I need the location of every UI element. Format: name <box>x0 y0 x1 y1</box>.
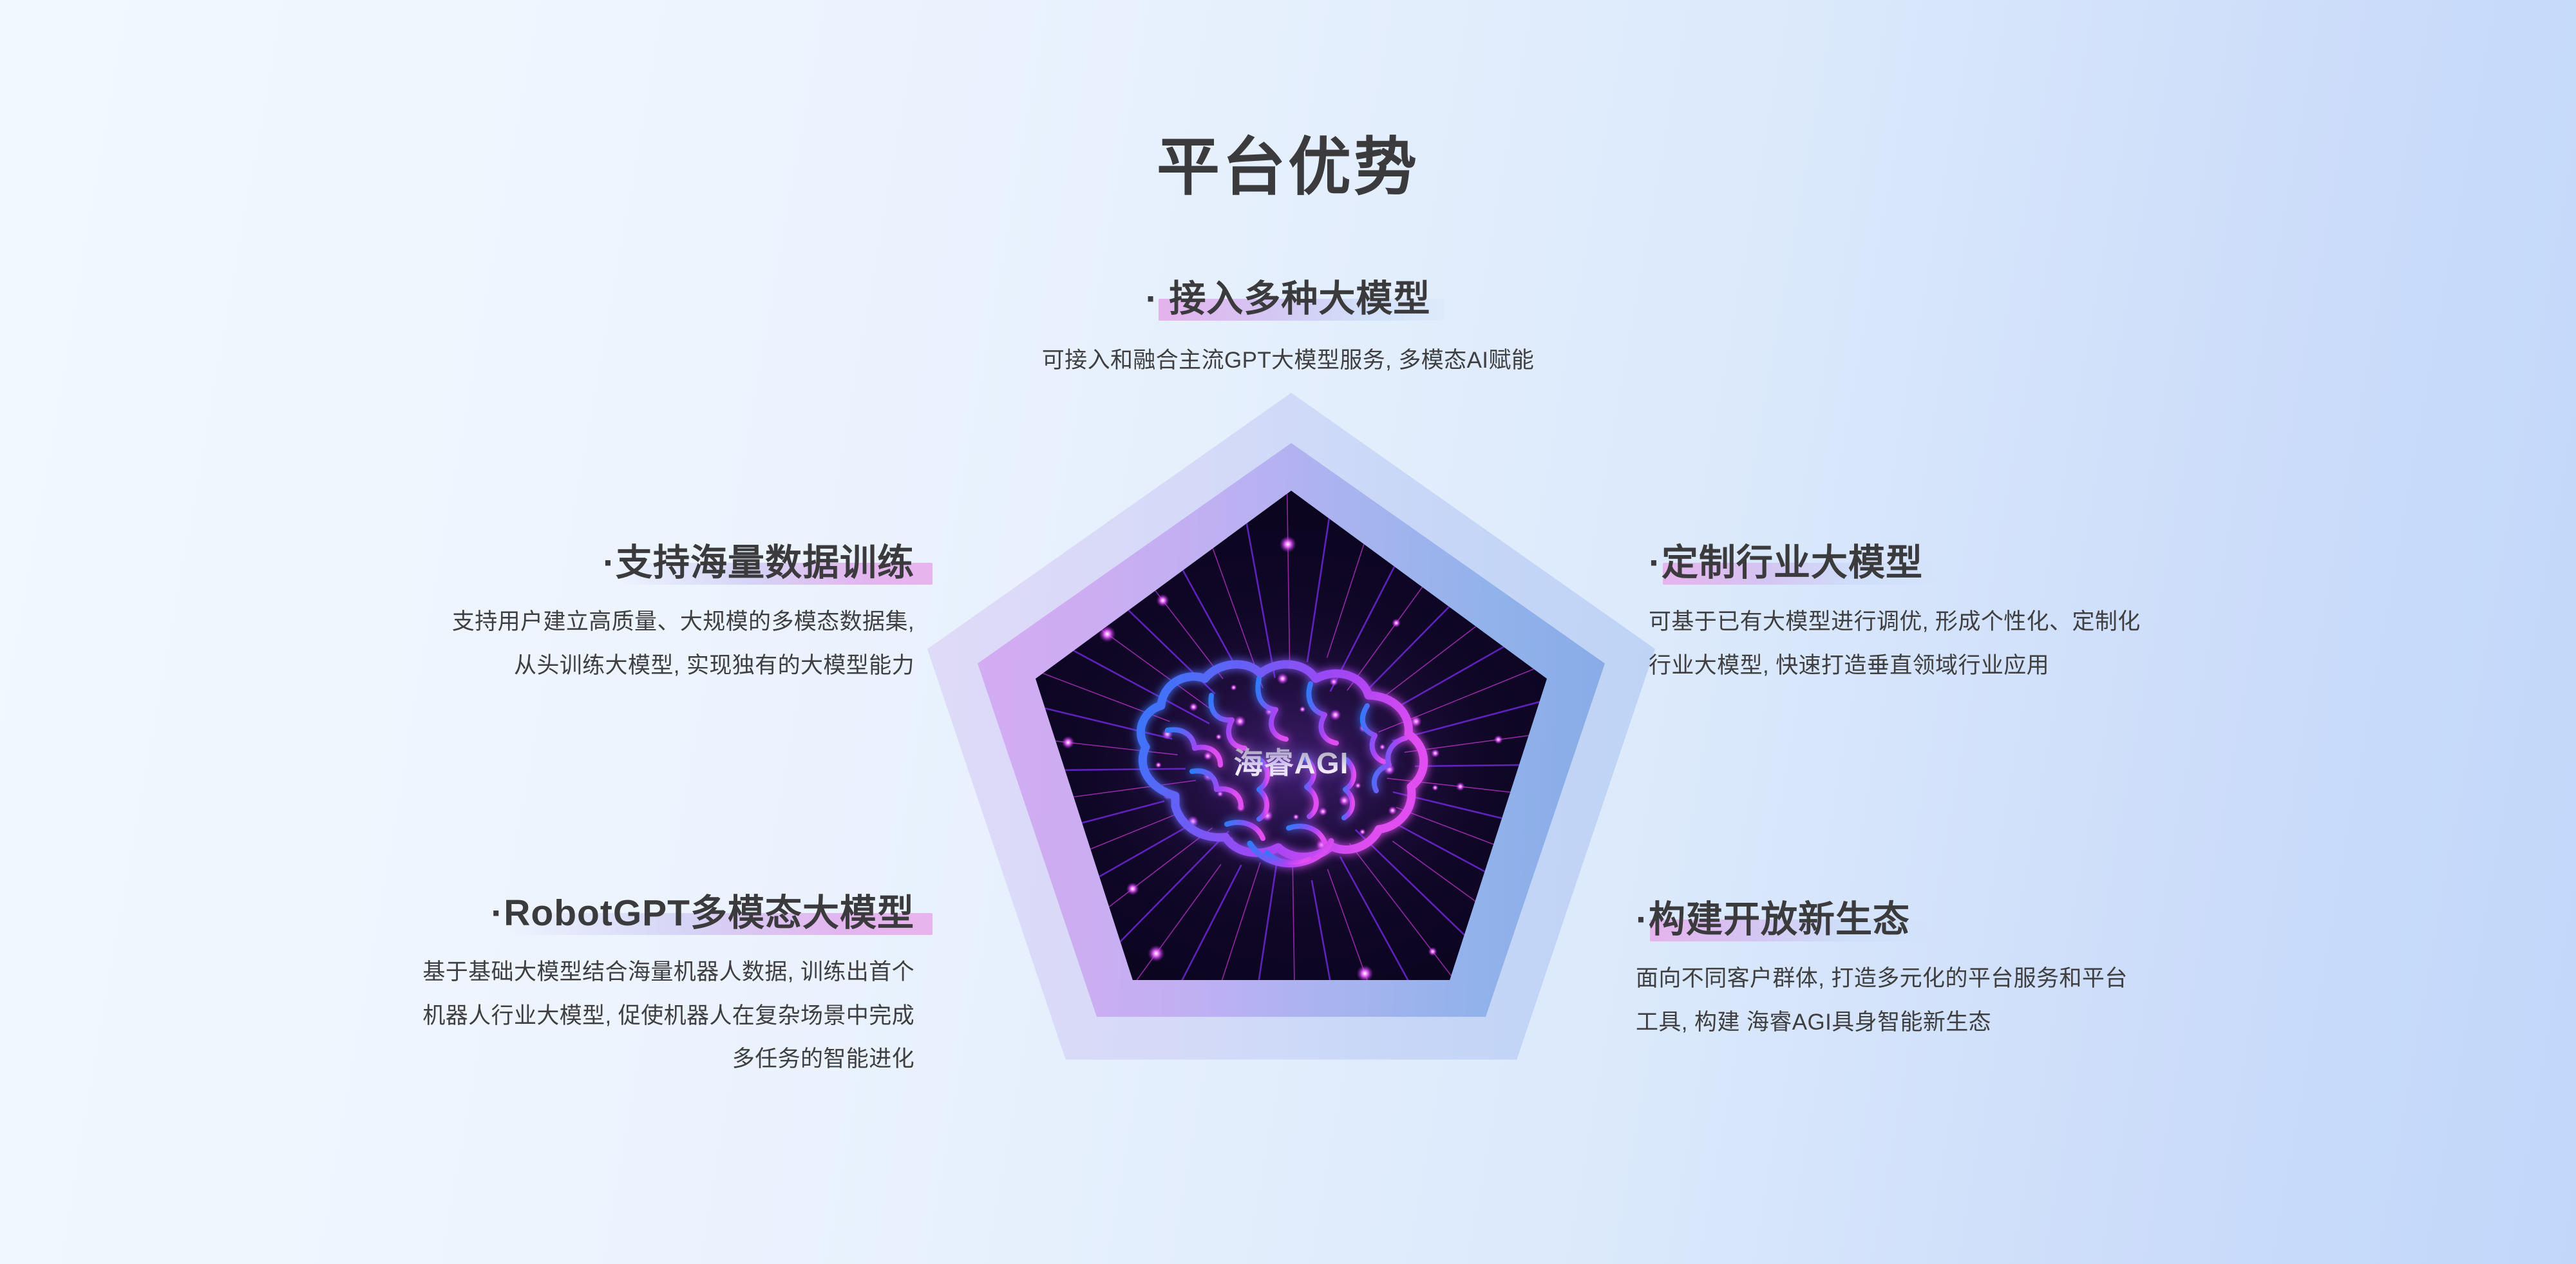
feature-heading-text: · 接入多种大模型 <box>1146 278 1431 319</box>
feature-heading-text: ·构建开放新生态 <box>1636 899 1910 940</box>
description-line: 基于基础大模型结合海量机器人数据, 训练出首个 <box>77 950 914 994</box>
description-line: 支持用户建立高质量、大规模的多模态数据集, <box>103 600 914 643</box>
feature-access-multiple-models: · 接入多种大模型 可接入和融合主流GPT大模型服务, 多模态AI赋能 <box>708 276 1868 382</box>
feature-description: 可基于已有大模型进行调优, 形成个性化、定制化 行业大模型, 快速打造垂直领域行… <box>1649 600 2486 686</box>
description-line: 多任务的智能进化 <box>77 1037 914 1080</box>
feature-heading: ·RobotGPT多模态大模型 <box>491 890 914 939</box>
feature-heading: · 接入多种大模型 <box>1146 276 1431 325</box>
page-title: 平台优势 <box>0 116 2576 207</box>
feature-open-ecosystem: ·构建开放新生态 面向不同客户群体, 打造多元化的平台服务和平台 工具, 构建 … <box>1636 896 2473 1044</box>
description-line: 行业大模型, 快速打造垂直领域行业应用 <box>1649 644 2486 687</box>
feature-heading: ·支持海量数据训练 <box>603 540 914 589</box>
feature-description: 可接入和融合主流GPT大模型服务, 多模态AI赋能 <box>708 339 1868 382</box>
description-line: 从头训练大模型, 实现独有的大模型能力 <box>103 644 914 687</box>
center-logo-label: 海睿AGI <box>1234 740 1349 782</box>
feature-heading: ·定制行业大模型 <box>1649 540 1923 589</box>
description-line: 可基于已有大模型进行调优, 形成个性化、定制化 <box>1649 600 2486 643</box>
feature-heading-text: ·定制行业大模型 <box>1649 542 1923 583</box>
feature-description: 支持用户建立高质量、大规模的多模态数据集, 从头训练大模型, 实现独有的大模型能… <box>103 600 914 686</box>
feature-custom-industry-model: ·定制行业大模型 可基于已有大模型进行调优, 形成个性化、定制化 行业大模型, … <box>1649 540 2486 687</box>
feature-robotgpt-multimodal-model: ·RobotGPT多模态大模型 基于基础大模型结合海量机器人数据, 训练出首个 … <box>77 890 914 1080</box>
central-pentagon-graphic: 海睿AGI <box>927 393 1655 1095</box>
description-line: 工具, 构建 海睿AGI具身智能新生态 <box>1636 1001 2473 1044</box>
feature-massive-data-training: ·支持海量数据训练 支持用户建立高质量、大规模的多模态数据集, 从头训练大模型,… <box>103 540 914 687</box>
feature-heading: ·构建开放新生态 <box>1636 896 1910 945</box>
feature-heading-text: ·支持海量数据训练 <box>603 542 914 583</box>
feature-description: 基于基础大模型结合海量机器人数据, 训练出首个 机器人行业大模型, 促使机器人在… <box>77 950 914 1080</box>
description-line: 可接入和融合主流GPT大模型服务, 多模态AI赋能 <box>708 339 1868 382</box>
description-line: 面向不同客户群体, 打造多元化的平台服务和平台 <box>1636 957 2473 1000</box>
description-line: 机器人行业大模型, 促使机器人在复杂场景中完成 <box>77 994 914 1037</box>
feature-description: 面向不同客户群体, 打造多元化的平台服务和平台 工具, 构建 海睿AGI具身智能… <box>1636 957 2473 1043</box>
feature-heading-text: ·RobotGPT多模态大模型 <box>491 892 914 934</box>
